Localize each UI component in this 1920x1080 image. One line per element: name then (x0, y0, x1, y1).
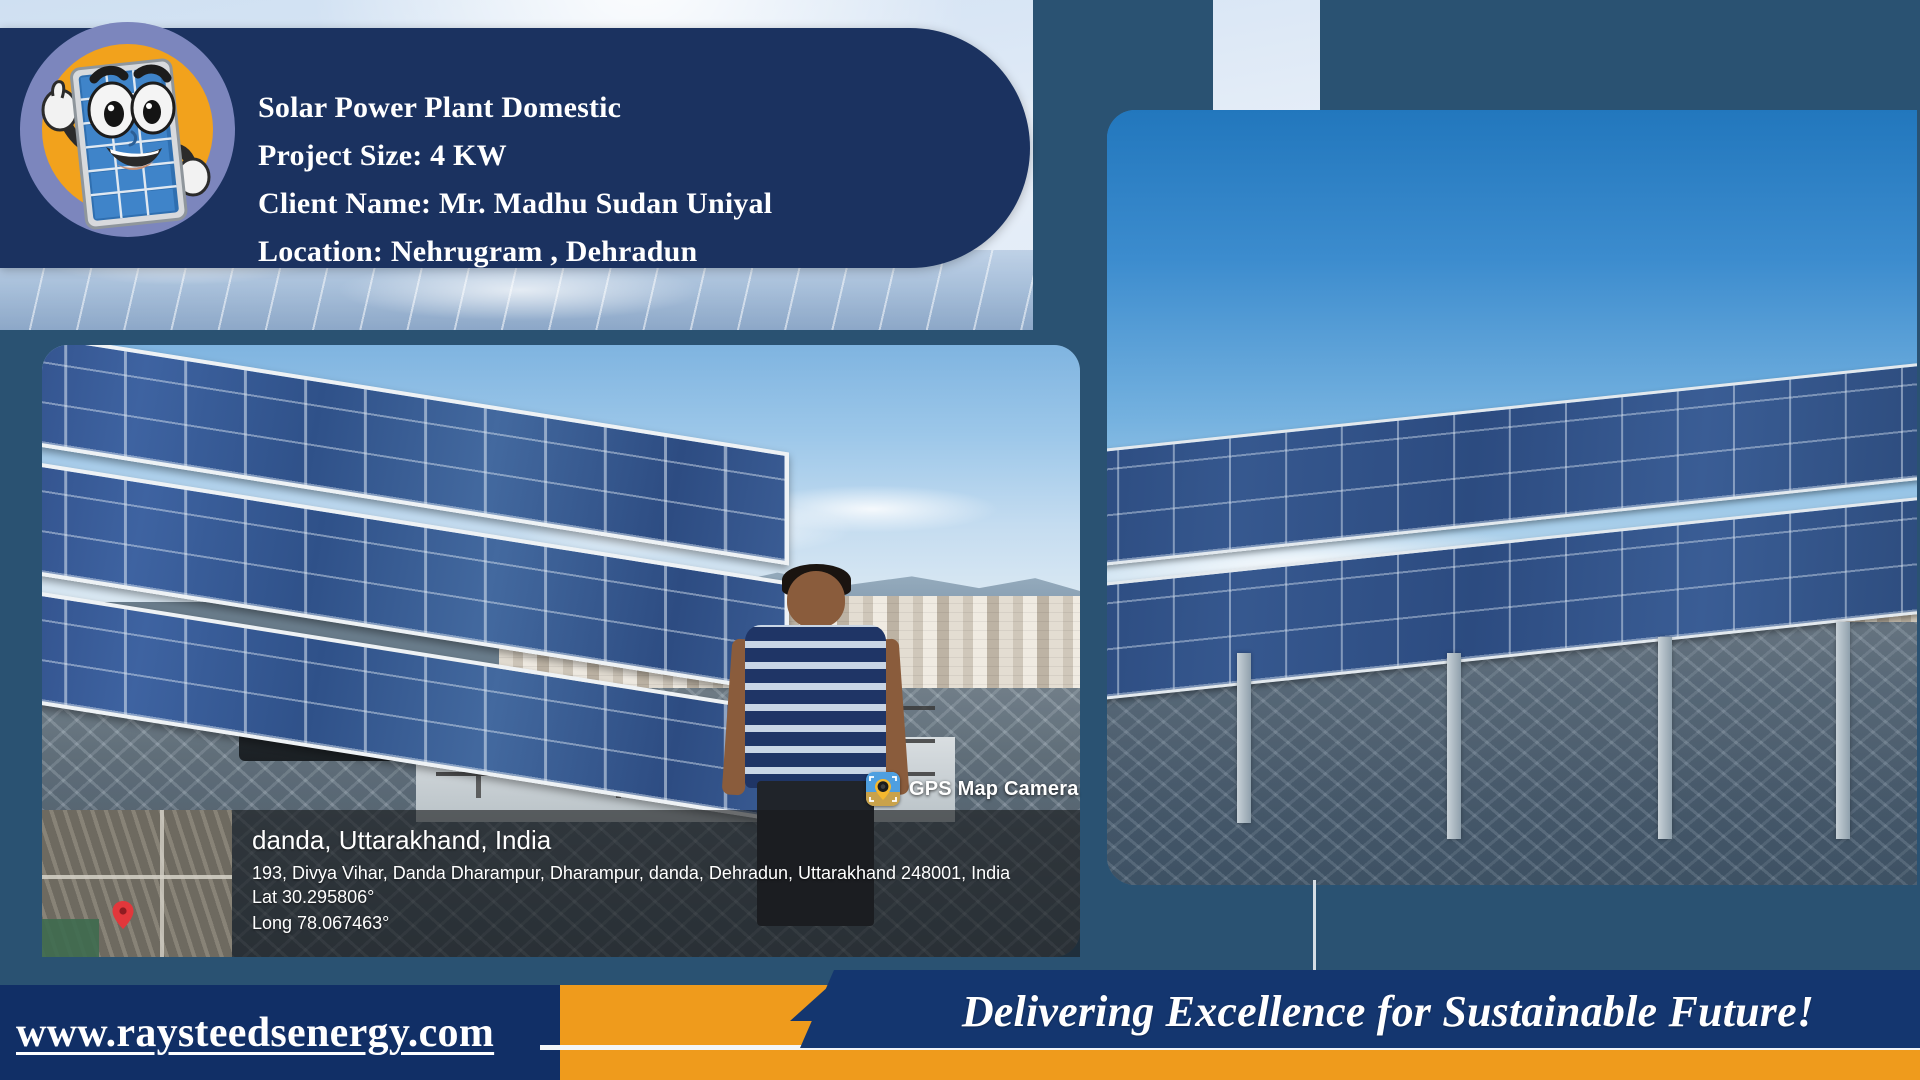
solar-panel-mascot-icon (20, 22, 235, 237)
gps-map-camera-label: GPS Map Camera (909, 778, 1079, 801)
gps-location-overlay: danda, Uttarakhand, India 193, Divya Vih… (42, 810, 1080, 957)
company-logo-badge (20, 22, 235, 237)
person-striped-shirt (745, 625, 886, 788)
location-line: Location: Nehrugram , Dehradun (258, 228, 998, 276)
website-link[interactable]: www.raysteedsenergy.com (16, 1001, 536, 1065)
gps-longitude: Long 78.067463° (252, 910, 1062, 936)
company-tagline: Delivering Excellence for Sustainable Fu… (868, 977, 1908, 1047)
project-details: Solar Power Plant Domestic Project Size:… (258, 84, 998, 276)
mount-leg (1836, 622, 1850, 839)
gps-latitude: Lat 30.295806° (252, 884, 1062, 910)
project-size-line: Project Size: 4 KW (258, 132, 998, 180)
vertical-divider (1313, 880, 1316, 985)
project-type-value: Domestic (501, 91, 621, 124)
project-type-line: Solar Power Plant Domestic (258, 84, 998, 132)
project-size-value: 4 KW (430, 139, 507, 172)
footer-banner: www.raysteedsenergy.com Delivering Excel… (0, 985, 1920, 1080)
gps-map-camera-icon (866, 772, 900, 806)
location-label: Location: (258, 235, 383, 268)
client-name-value: Mr. Madhu Sudan Uniyal (439, 187, 772, 220)
client-name-label: Client Name: (258, 187, 431, 220)
client-name-line: Client Name: Mr. Madhu Sudan Uniyal (258, 180, 998, 228)
secondary-project-photo (1107, 110, 1917, 885)
mount-leg (1237, 653, 1251, 824)
mount-leg (1447, 653, 1461, 839)
poster-canvas: Solar Power Plant Domestic Project Size:… (0, 0, 1920, 1080)
gps-place-title: danda, Uttarakhand, India (252, 826, 1062, 856)
location-pin-icon (112, 901, 134, 929)
gps-text-block: danda, Uttarakhand, India 193, Divya Vih… (232, 810, 1080, 957)
gps-map-camera-watermark: GPS Map Camera (866, 772, 1079, 806)
project-size-label: Project Size: (258, 139, 422, 172)
location-value: Nehrugram , Dehradun (391, 235, 698, 268)
mount-leg (1658, 637, 1672, 839)
map-thumbnail (42, 810, 232, 957)
person-head (787, 571, 845, 628)
gps-full-address: 193, Divya Vihar, Danda Dharampur, Dhara… (252, 862, 1062, 885)
project-type-label: Solar Power Plant (258, 91, 494, 124)
